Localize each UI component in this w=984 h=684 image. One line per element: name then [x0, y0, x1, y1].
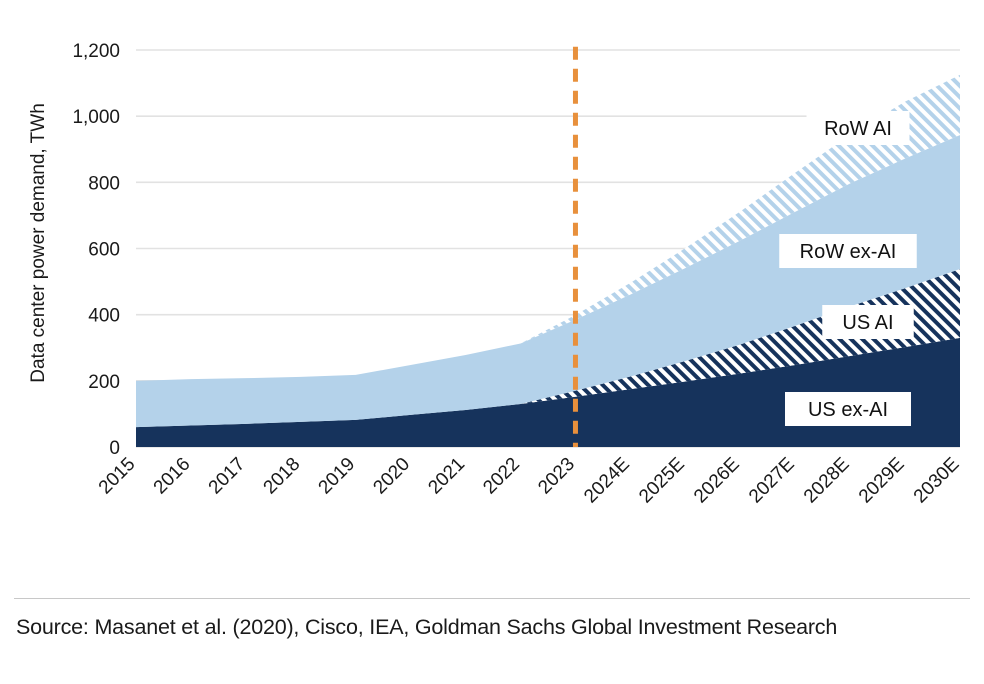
stacked-area-chart: 02004006008001,0001,200 2015201620172018… [0, 0, 984, 572]
series-label: RoW ex-AI [800, 241, 897, 263]
x-tick-label: 2018 [260, 454, 305, 499]
y-axis-tick-labels: 02004006008001,0001,200 [72, 41, 120, 459]
x-tick-label: 2022 [479, 454, 524, 499]
x-tick-label: 2015 [95, 454, 140, 499]
x-tick-label: 2024E [580, 454, 634, 508]
x-tick-label: 2025E [635, 454, 689, 508]
x-tick-label: 2017 [205, 454, 250, 499]
y-tick-label: 400 [88, 306, 120, 327]
source-note: Source: Masanet et al. (2020), Cisco, IE… [16, 611, 946, 643]
x-tick-label: 2029E [855, 454, 909, 508]
y-tick-label: 1,000 [72, 107, 120, 128]
y-tick-label: 800 [88, 173, 120, 194]
chart-figure: 02004006008001,0001,200 2015201620172018… [0, 0, 984, 684]
source-divider [14, 598, 970, 599]
y-tick-label: 600 [88, 240, 120, 261]
y-tick-label: 200 [88, 372, 120, 393]
x-axis-tick-labels: 2015201620172018201920202021202220232024… [95, 454, 964, 508]
series-label: US ex-AI [808, 399, 888, 421]
x-tick-label: 2016 [150, 454, 195, 499]
series-label: RoW AI [824, 118, 892, 140]
y-tick-label: 0 [109, 438, 120, 459]
series-label: US AI [842, 312, 893, 334]
x-tick-label: 2027E [745, 454, 799, 508]
x-tick-label: 2023 [534, 454, 579, 499]
x-tick-label: 2028E [800, 454, 854, 508]
x-tick-label: 2019 [315, 454, 360, 499]
x-tick-label: 2020 [369, 454, 414, 499]
x-tick-label: 2021 [424, 454, 469, 499]
x-tick-label: 2026E [690, 454, 744, 508]
y-tick-label: 1,200 [72, 41, 120, 62]
chart-plot-panel: 02004006008001,0001,200 2015201620172018… [0, 0, 984, 572]
x-tick-label: 2030E [910, 454, 964, 508]
y-axis-title: Data center power demand, TWh [28, 103, 49, 383]
